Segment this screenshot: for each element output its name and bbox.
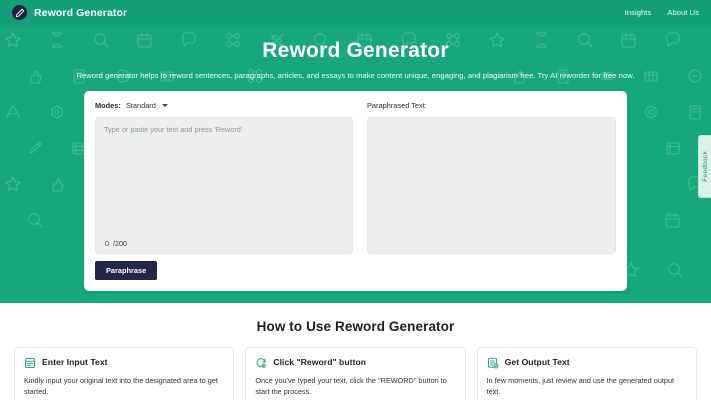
form-document-icon xyxy=(24,356,36,368)
character-counter: 0/200 xyxy=(105,239,127,248)
reword-tool-card: Modes: Standard Type or paste your text … xyxy=(84,91,627,291)
howto-card-title: Enter Input Text xyxy=(42,357,108,367)
input-placeholder: Type or paste your text and press 'Rewor… xyxy=(104,125,344,134)
brand[interactable]: Reword Generator xyxy=(12,5,127,20)
howto-card-get-output-text: Get Output Text In few moments, just rev… xyxy=(477,347,697,400)
modes-selector[interactable]: Modes: Standard xyxy=(95,100,353,111)
howto-card-enter-input-text: Enter Input Text Kindly input your origi… xyxy=(14,347,234,400)
chevron-down-icon xyxy=(162,104,168,107)
output-pane: Paraphrased Text: xyxy=(367,100,616,280)
modes-selected-value: Standard xyxy=(126,101,156,110)
brand-name: Reword Generator xyxy=(34,7,127,19)
page-title: Reword Generator xyxy=(0,39,711,63)
app-header: Reword Generator Insights About Us xyxy=(0,0,711,25)
counter-current: 0 xyxy=(105,239,109,248)
counter-limit: /200 xyxy=(113,239,127,248)
feedback-tab-label: Feedback xyxy=(702,151,709,182)
howto-card-body: Kindly input your original text into the… xyxy=(24,375,224,398)
how-to-use-title: How to Use Reword Generator xyxy=(14,319,697,334)
how-to-use-cards: Enter Input Text Kindly input your origi… xyxy=(14,347,697,400)
output-textarea[interactable] xyxy=(367,117,616,254)
output-label: Paraphrased Text: xyxy=(367,100,616,111)
input-textarea[interactable]: Type or paste your text and press 'Rewor… xyxy=(95,117,353,254)
nav-link-about-us[interactable]: About Us xyxy=(667,8,699,17)
howto-card-body: Once you've typed your text, click the "… xyxy=(255,375,455,398)
nav-link-insights[interactable]: Insights xyxy=(625,8,652,17)
howto-card-title: Click "Reword" button xyxy=(273,357,366,367)
hero-section: Reword Generator Reword generator helps … xyxy=(0,25,711,303)
howto-card-title: Get Output Text xyxy=(505,357,570,367)
reword-refresh-icon xyxy=(255,356,267,368)
quill-pen-icon xyxy=(12,5,27,20)
howto-card-body: In few moments, just review and use the … xyxy=(487,375,687,398)
input-pane: Modes: Standard Type or paste your text … xyxy=(95,100,353,280)
how-to-use-section: How to Use Reword Generator Enter Input … xyxy=(0,303,711,400)
howto-card-click-reword-button: Click "Reword" button Once you've typed … xyxy=(245,347,465,400)
paraphrase-button[interactable]: Paraphrase xyxy=(95,261,157,280)
hero-subtitle: Reword generator helps to reword sentenc… xyxy=(0,71,711,80)
modes-label: Modes: xyxy=(95,101,121,110)
feedback-tab[interactable]: Feedback xyxy=(698,135,711,198)
main-nav: Insights About Us xyxy=(625,8,699,17)
output-document-check-icon xyxy=(487,356,499,368)
